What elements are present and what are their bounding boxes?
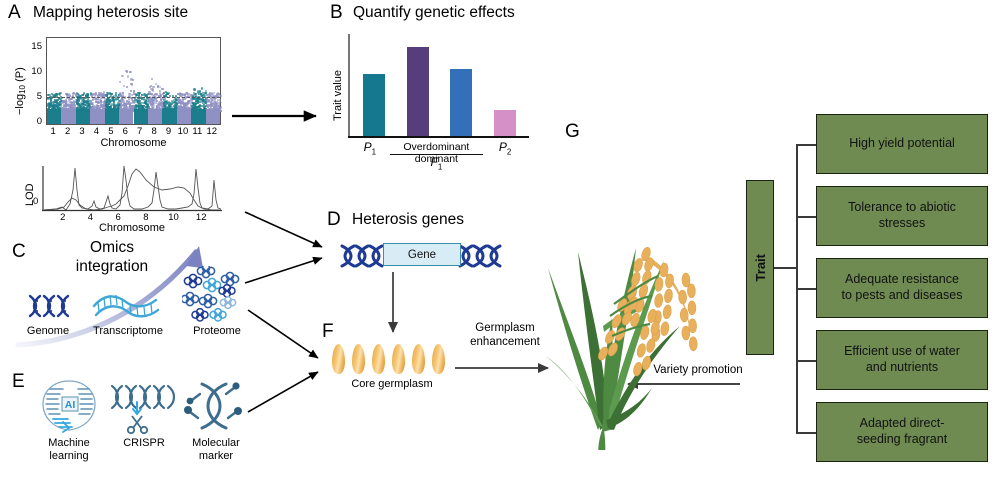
trait-branch-pest-resistance [796,288,816,290]
germplasm-grain [412,344,425,374]
ai-brain-icon: AI [36,378,102,434]
dna-helix-icon [24,290,72,322]
germplasm-grain [392,344,405,374]
panel-c-title-line2: integration [52,257,172,276]
trait-box-pest-resistance[interactable]: Adequate resistanceto pests and diseases [816,258,988,318]
panel-c-letter: C [12,242,26,261]
trait-trunk [774,267,798,269]
trait-box-label: Adequate resistanceto pests and diseases [842,272,963,303]
trait-axis-box: Trait [746,180,774,355]
core-germplasm-label: Core germplasm [322,378,462,391]
panel-e-letter: E [12,372,25,391]
dna-scissors-icon [108,378,180,436]
tool-label-mm-line2: marker [176,450,256,463]
tool-label-ml-line1: Machine [30,437,108,450]
svg-text:AI: AI [65,399,76,411]
protein-cluster-icon [182,266,250,324]
omics-label-transcriptome: Transcriptome [82,325,174,338]
tool-label-molecular-marker: Molecular marker [176,437,256,462]
tool-label-crispr-line1: CRISPR [108,437,180,450]
trait-box-label: Efficient use of waterand nutrients [844,344,960,375]
omics-label-proteome: Proteome [178,325,256,338]
panel-f-letter: F [322,322,334,341]
rna-strand-icon [90,288,164,324]
trait-axis-label: Trait [753,254,768,281]
panel-d-letter: D [327,210,341,229]
gene-box: Gene [383,243,461,266]
panel-c-title-line1: Omics [52,238,172,257]
dna-marker-icon [182,374,248,436]
germplasm-grain [372,344,385,374]
tool-label-crispr: CRISPR [108,437,180,450]
tool-label-mm-line1: Molecular [176,437,256,450]
trait-box-abiotic-tolerance[interactable]: Tolerance to abioticstresses [816,186,988,246]
trait-branch-abiotic-tolerance [796,216,816,218]
figure-canvas: A Mapping heterosis site −log10 (P) 15 1… [0,0,994,481]
trait-box-high-yield[interactable]: High yield potential [816,114,988,174]
trait-box-label: Adapted direct-seeding fragrant [857,416,947,447]
tool-label-machine-learning: Machine learning [30,437,108,462]
panel-d-title: Heterosis genes [352,212,464,228]
germplasm-grain [332,344,345,374]
trait-box-label: Tolerance to abioticstresses [848,200,956,231]
omics-label-genome: Genome [12,325,84,338]
rice-plant [540,130,750,450]
trait-box-water-nutrients[interactable]: Efficient use of waterand nutrients [816,330,988,390]
trait-box-direct-seeding[interactable]: Adapted direct-seeding fragrant [816,402,988,462]
trait-branch-high-yield [796,144,816,146]
germplasm-grain [432,344,445,374]
trait-box-label: High yield potential [849,136,955,152]
panel-c-title: Omics integration [52,238,172,277]
core-germplasm-grains [332,344,450,376]
trait-branch-direct-seeding [796,432,816,434]
trait-branch-water-nutrients [796,360,816,362]
tool-label-ml-line2: learning [30,450,108,463]
germplasm-grain [352,344,365,374]
